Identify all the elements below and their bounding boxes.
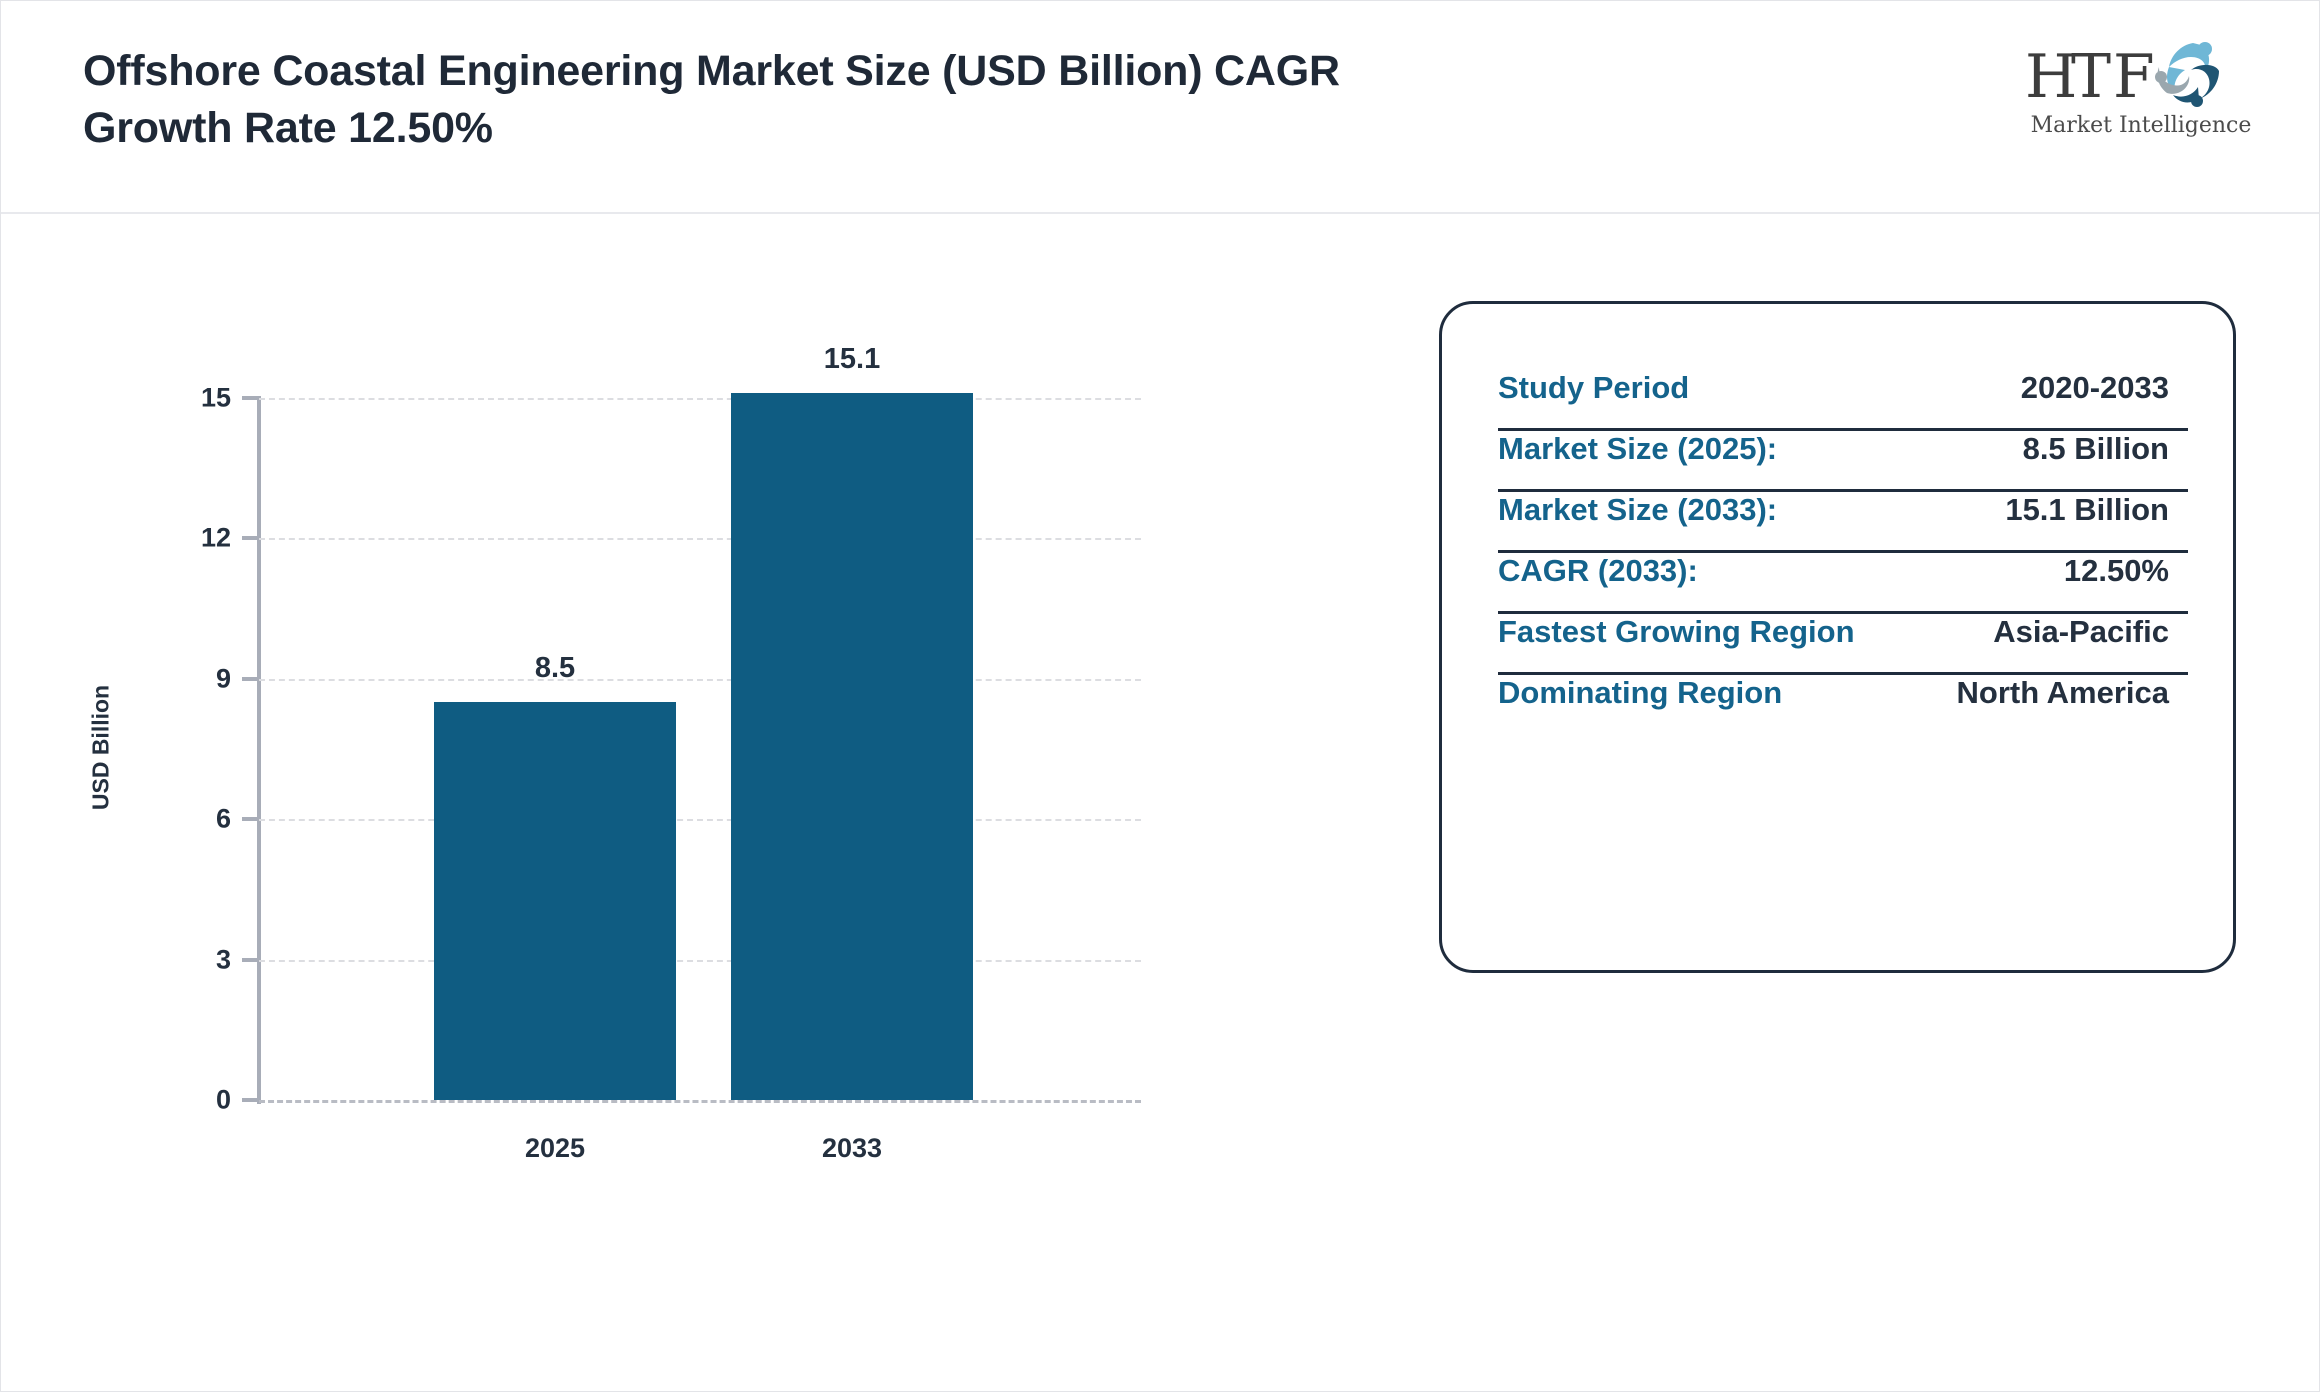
summary-row-value: 2020-2033 (2021, 370, 2229, 406)
gridline (259, 819, 1141, 821)
x-tick-label-2025: 2025 (435, 1133, 675, 1164)
summary-row: Market Size (2025):8.5 Billion (1498, 431, 2229, 489)
bar-2033[interactable] (731, 393, 973, 1100)
y-tick-label: 3 (171, 944, 231, 975)
y-tick-label: 9 (171, 663, 231, 694)
y-tick-mark (242, 817, 258, 821)
market-summary-card: Study Period2020-2033Market Size (2025):… (1439, 301, 2236, 973)
y-tick-mark (242, 1098, 258, 1102)
y-tick-label: 15 (171, 383, 231, 414)
summary-row-label: Fastest Growing Region (1498, 614, 1855, 650)
summary-row: Dominating RegionNorth America (1498, 675, 2229, 733)
page-title: Offshore Coastal Engineering Market Size… (83, 43, 1423, 157)
y-tick-mark (242, 396, 258, 400)
y-tick-label: 6 (171, 804, 231, 835)
summary-row-label: Study Period (1498, 370, 1689, 406)
y-tick-mark (242, 536, 258, 540)
summary-row: CAGR (2033):12.50% (1498, 553, 2229, 611)
y-tick-label: 12 (171, 523, 231, 554)
bar-chart: USD Billion 8.5202515.12033 03691215 (1, 214, 1401, 1392)
summary-row: Market Size (2033):15.1 Billion (1498, 492, 2229, 550)
bar-value-label: 15.1 (742, 343, 962, 376)
summary-row-label: Market Size (2033): (1498, 492, 1777, 528)
gridline (259, 960, 1141, 962)
htf-triskelion-icon: H T F (2021, 35, 2261, 113)
chart-page: Offshore Coastal Engineering Market Size… (0, 0, 2320, 1392)
summary-rows: Study Period2020-2033Market Size (2025):… (1498, 370, 2229, 733)
page-header: Offshore Coastal Engineering Market Size… (1, 1, 2319, 214)
summary-row-label: Market Size (2025): (1498, 431, 1777, 467)
summary-row: Fastest Growing RegionAsia-Pacific (1498, 614, 2229, 672)
summary-row: Study Period2020-2033 (1498, 370, 2229, 428)
svg-text:F: F (2113, 42, 2155, 112)
svg-text:H: H (2025, 42, 2077, 112)
logo-subtitle: Market Intelligence (2021, 113, 2261, 138)
y-tick-mark (242, 677, 258, 681)
x-tick-label-2033: 2033 (732, 1133, 972, 1164)
gridline (259, 679, 1141, 681)
summary-row-label: Dominating Region (1498, 675, 1782, 711)
gridline (259, 398, 1141, 400)
plot-area: 8.5202515.12033 (259, 398, 1141, 1100)
summary-row-value: 8.5 Billion (2023, 431, 2229, 467)
gridline (259, 538, 1141, 540)
y-axis-title: USD Billion (88, 618, 115, 878)
summary-row-value: North America (1957, 675, 2229, 711)
summary-row-value: Asia-Pacific (1993, 614, 2229, 650)
gridline (259, 1100, 1141, 1103)
bar-2025[interactable] (434, 702, 676, 1100)
summary-row-label: CAGR (2033): (1498, 553, 1698, 589)
y-tick-label: 0 (171, 1085, 231, 1116)
bar-value-label: 8.5 (445, 652, 665, 685)
y-tick-mark (242, 958, 258, 962)
summary-row-value: 12.50% (2064, 553, 2229, 589)
brand-logo: H T F Market Intelligen (2021, 35, 2261, 145)
summary-row-value: 15.1 Billion (2005, 492, 2229, 528)
svg-text:T: T (2071, 42, 2111, 112)
